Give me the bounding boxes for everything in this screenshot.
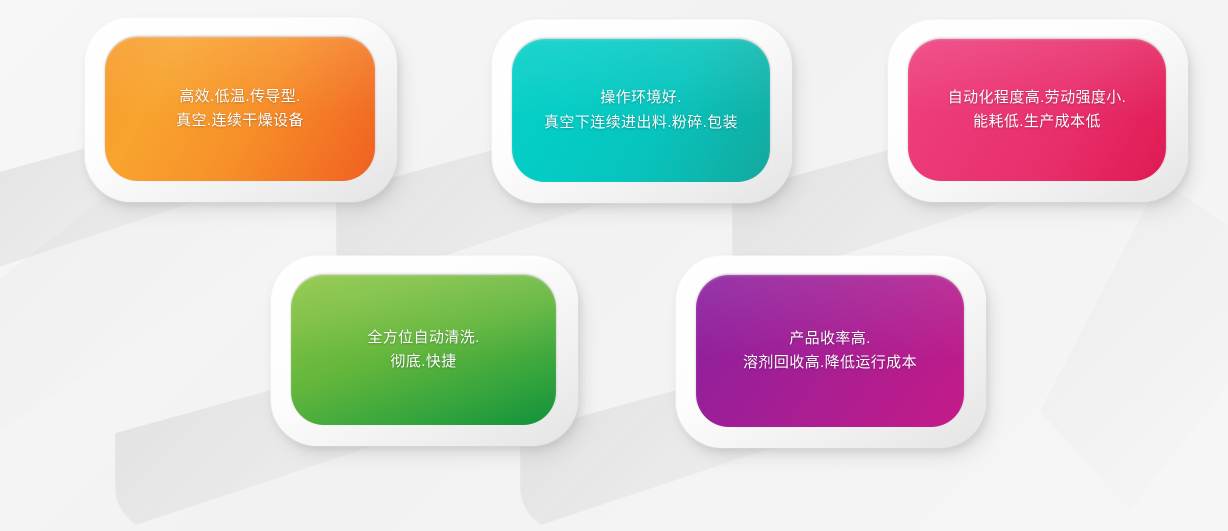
card-3-text: 自动化程度高.劳动强度小.能耗低.生产成本低 [938,86,1137,135]
feature-card-auto-cleaning[interactable]: 全方位自动清洗.彻底.快捷 [271,256,578,446]
feature-card-drying-equipment[interactable]: 高效.低温.传导型.真空.连续干燥设备 [85,18,397,202]
card-5-text: 产品收率高.溶剂回收高.降低运行成本 [733,327,927,376]
card-1-color-panel: 高效.低温.传导型.真空.连续干燥设备 [105,37,375,181]
card-2-line-2: 真空下连续进出料.粉碎.包装 [544,114,738,131]
card-2-text: 操作环境好.真空下连续进出料.粉碎.包装 [534,86,748,135]
card-1-line-1: 高效.低温.传导型. [179,88,301,105]
background-diagonal-streak-right [1040,180,1228,510]
card-3-color-panel: 自动化程度高.劳动强度小.能耗低.生产成本低 [908,39,1166,181]
feature-cards-canvas: 高效.低温.传导型.真空.连续干燥设备 操作环境好.真空下连续进出料.粉碎.包装… [0,0,1228,531]
card-3-line-2: 能耗低.生产成本低 [973,113,1101,130]
card-5-color-panel: 产品收率高.溶剂回收高.降低运行成本 [696,275,964,427]
card-1-text: 高效.低温.传导型.真空.连续干燥设备 [166,85,314,134]
card-2-line-1: 操作环境好. [600,89,682,106]
card-5-line-1: 产品收率高. [789,330,871,347]
card-3-line-1: 自动化程度高.劳动强度小. [948,89,1127,106]
card-1-line-2: 真空.连续干燥设备 [176,112,304,129]
card-2-color-panel: 操作环境好.真空下连续进出料.粉碎.包装 [512,39,770,182]
feature-card-product-yield[interactable]: 产品收率高.溶剂回收高.降低运行成本 [676,256,986,448]
card-4-line-2: 彻底.快捷 [390,353,456,370]
card-4-color-panel: 全方位自动清洗.彻底.快捷 [291,275,556,425]
card-4-text: 全方位自动清洗.彻底.快捷 [357,326,489,375]
feature-card-automation[interactable]: 自动化程度高.劳动强度小.能耗低.生产成本低 [888,20,1188,202]
card-4-line-1: 全方位自动清洗. [367,329,479,346]
card-5-line-2: 溶剂回收高.降低运行成本 [743,354,917,371]
feature-card-operating-environment[interactable]: 操作环境好.真空下连续进出料.粉碎.包装 [492,20,792,203]
